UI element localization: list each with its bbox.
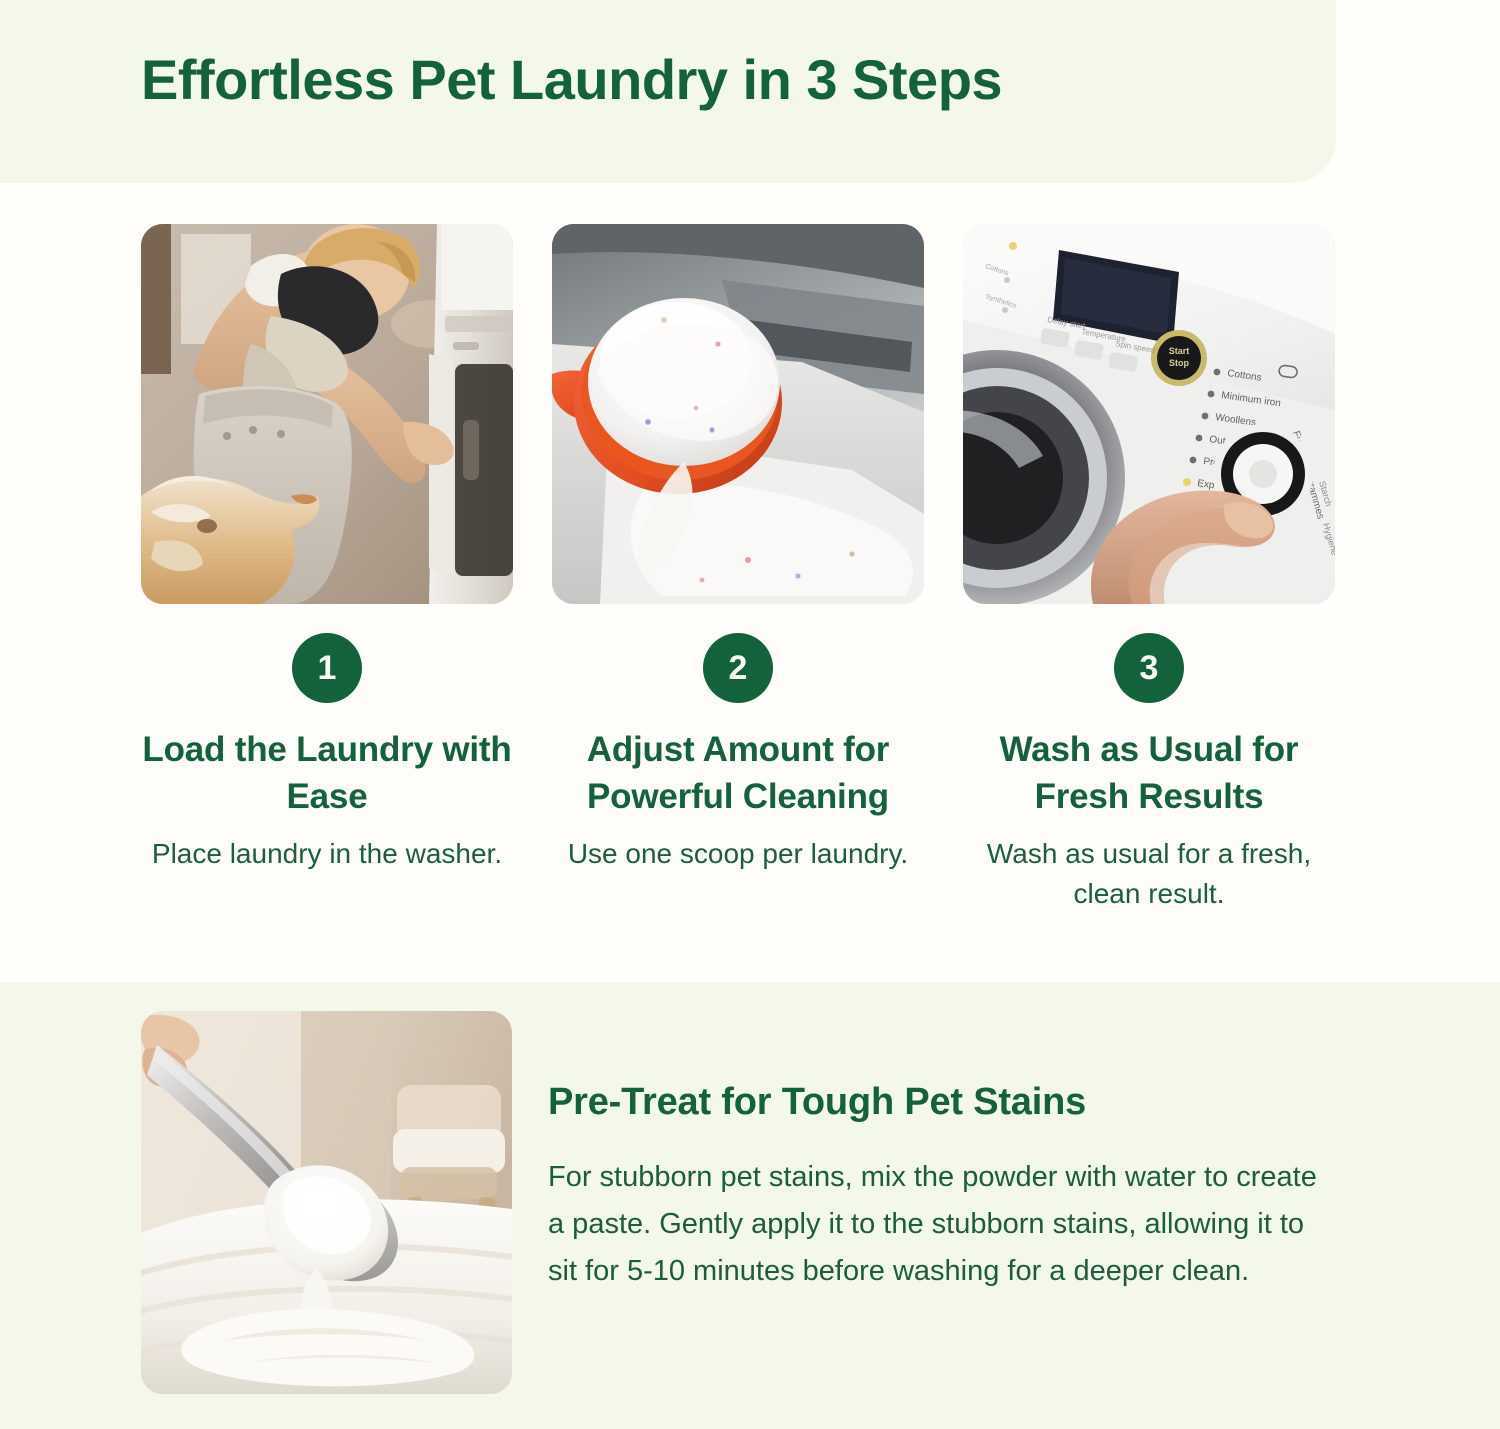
spoon-of-paste-on-towel-photo [141,1011,512,1394]
step-card-3: Start Stop Delay start Temperature Spin … [963,224,1335,914]
step-number-badge: 3 [1114,633,1184,703]
page-title: Effortless Pet Laundry in 3 Steps [141,48,1002,112]
washing-machine-dial-photo: Start Stop Delay start Temperature Spin … [963,224,1335,604]
step-title: Load the Laundry with Ease [141,727,513,820]
step-card-1: 1 Load the Laundry with Ease Place laund… [141,224,513,914]
pre-treat-body: For stubborn pet stains, mix the powder … [548,1154,1338,1295]
detergent-scoop-photo [552,224,924,604]
step-title: Adjust Amount for Powerful Cleaning [552,727,924,820]
svg-text:Start: Start [1169,346,1190,356]
pre-treat-text-block: Pre-Treat for Tough Pet Stains For stubb… [548,1080,1338,1295]
step-description: Place laundry in the washer. [152,834,502,874]
step-number-badge: 1 [292,633,362,703]
pre-treat-title: Pre-Treat for Tough Pet Stains [548,1080,1338,1126]
step-number-badge: 2 [703,633,773,703]
steps-row: 1 Load the Laundry with Ease Place laund… [141,224,1335,914]
step-title: Wash as Usual for Fresh Results [963,727,1335,820]
infographic-page: Effortless Pet Laundry in 3 Steps [0,0,1500,1429]
child-loading-laundry-with-dog-photo [141,224,513,604]
svg-text:Stop: Stop [1169,358,1189,368]
header-band: Effortless Pet Laundry in 3 Steps [0,0,1336,183]
step-description: Use one scoop per laundry. [568,834,908,874]
step-card-2: 2 Adjust Amount for Powerful Cleaning Us… [552,224,924,914]
step-description: Wash as usual for a fresh, clean result. [969,834,1329,914]
